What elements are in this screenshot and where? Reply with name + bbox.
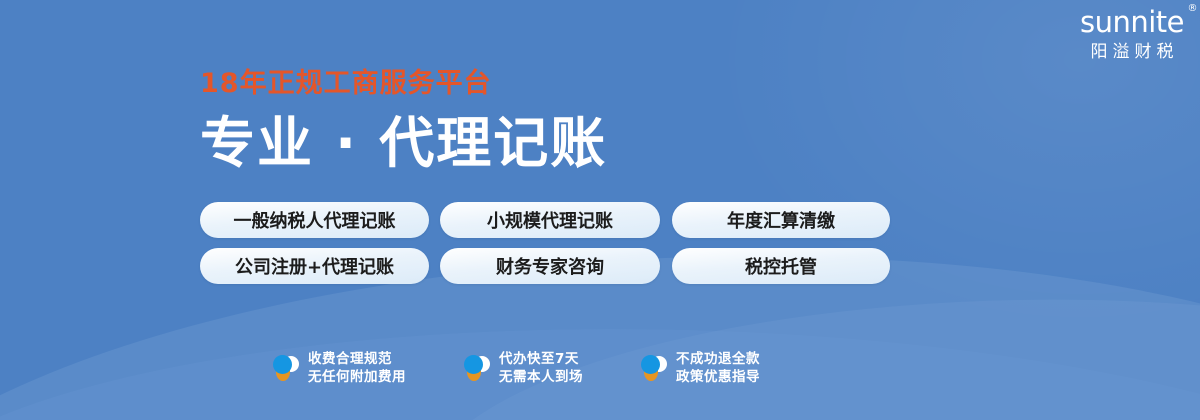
feature-text-guarantee: 不成功退全款 政策优惠指导 bbox=[676, 350, 760, 386]
service-pill-row-1: 一般纳税人代理记账 小规模代理记账 年度汇算清缴 bbox=[200, 202, 900, 238]
blue-dot-shape bbox=[641, 355, 660, 374]
eyebrow-text: 18年正规工商服务平台 bbox=[200, 70, 607, 97]
blue-dot-shape bbox=[464, 355, 483, 374]
logo-brand-text: sunnite bbox=[1080, 5, 1184, 39]
service-pill-general-taxpayer[interactable]: 一般纳税人代理记账 bbox=[200, 202, 429, 238]
feature-line-2: 无需本人到场 bbox=[499, 368, 583, 386]
service-pill-company-registration[interactable]: 公司注册+代理记账 bbox=[200, 248, 429, 284]
feature-text-pricing: 收费合理规范 无任何附加费用 bbox=[308, 350, 406, 386]
feature-item-speed: 代办快至7天 无需本人到场 bbox=[463, 350, 583, 386]
crescent-dot-icon bbox=[640, 353, 668, 383]
feature-list: 收费合理规范 无任何附加费用 代办快至7天 无需本人到场 不成功退全款 bbox=[272, 350, 760, 386]
registered-trademark-icon: ® bbox=[1188, 4, 1198, 14]
feature-item-pricing: 收费合理规范 无任何附加费用 bbox=[272, 350, 406, 386]
feature-line-1: 收费合理规范 bbox=[308, 350, 406, 368]
feature-line-1: 代办快至7天 bbox=[499, 350, 583, 368]
service-pill-small-scale[interactable]: 小规模代理记账 bbox=[440, 202, 660, 238]
feature-line-1: 不成功退全款 bbox=[676, 350, 760, 368]
feature-text-speed: 代办快至7天 无需本人到场 bbox=[499, 350, 583, 386]
logo-brand-name: sunnite ® bbox=[1080, 8, 1184, 37]
headline-block: 18年正规工商服务平台 专业 · 代理记账 bbox=[200, 70, 607, 171]
blue-dot-shape bbox=[273, 355, 292, 374]
service-pill-group: 一般纳税人代理记账 小规模代理记账 年度汇算清缴 公司注册+代理记账 财务专家咨… bbox=[200, 202, 900, 294]
crescent-dot-icon bbox=[463, 353, 491, 383]
feature-item-guarantee: 不成功退全款 政策优惠指导 bbox=[640, 350, 760, 386]
company-logo[interactable]: sunnite ® 阳溢财税 bbox=[1080, 8, 1184, 61]
service-pill-annual-settlement[interactable]: 年度汇算清缴 bbox=[672, 202, 890, 238]
promo-banner: sunnite ® 阳溢财税 18年正规工商服务平台 专业 · 代理记账 一般纳… bbox=[0, 0, 1200, 420]
logo-brand-name-cn: 阳溢财税 bbox=[1080, 44, 1184, 61]
feature-line-2: 政策优惠指导 bbox=[676, 368, 760, 386]
page-title: 专业 · 代理记账 bbox=[200, 116, 607, 171]
crescent-dot-icon bbox=[272, 353, 300, 383]
service-pill-tax-control-hosting[interactable]: 税控托管 bbox=[672, 248, 890, 284]
feature-line-2: 无任何附加费用 bbox=[308, 368, 406, 386]
service-pill-finance-consulting[interactable]: 财务专家咨询 bbox=[440, 248, 660, 284]
service-pill-row-2: 公司注册+代理记账 财务专家咨询 税控托管 bbox=[200, 248, 900, 284]
